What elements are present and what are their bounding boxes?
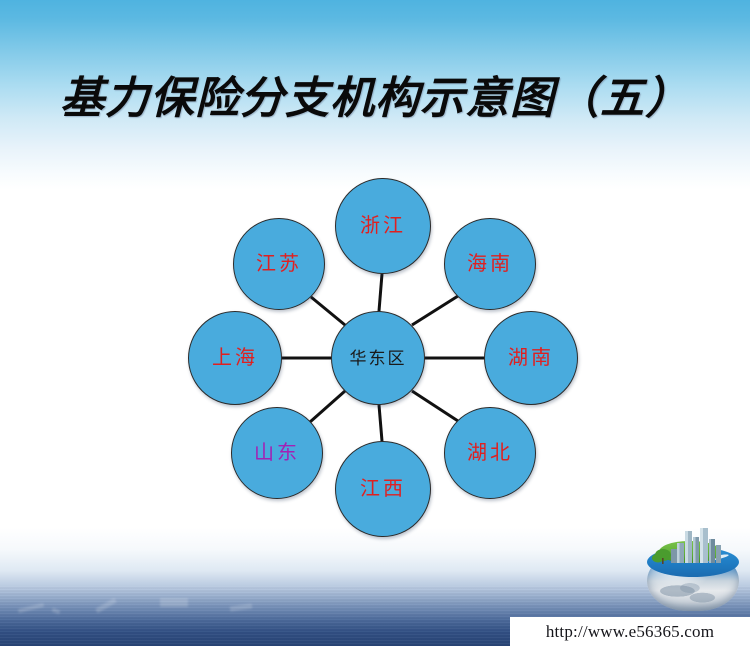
- diagram-node-hunan[interactable]: 湖南: [484, 311, 578, 405]
- edge-center-jiangsu: [311, 297, 345, 325]
- edge-center-hainan: [412, 296, 458, 325]
- edge-center-hubei: [412, 391, 458, 421]
- diagram-node-shanghai[interactable]: 上海: [188, 311, 282, 405]
- edge-center-zhejiang: [379, 274, 382, 311]
- diagram-node-label: 华东区: [350, 350, 407, 367]
- diagram-node-label: 山东: [254, 443, 300, 463]
- footer-url-text[interactable]: http://www.e56365.com: [546, 622, 714, 642]
- diagram-node-label: 湖北: [467, 443, 513, 463]
- diagram-node-zhejiang[interactable]: 浙江: [335, 178, 431, 274]
- earth-city-globe-icon: [641, 525, 745, 611]
- footer-url-bar: http://www.e56365.com: [510, 617, 750, 646]
- edge-center-jiangxi: [379, 405, 382, 441]
- diagram-node-label: 上海: [212, 348, 258, 368]
- diagram-node-shandong[interactable]: 山东: [231, 407, 323, 499]
- diagram-node-label: 湖南: [508, 348, 554, 368]
- diagram-node-jiangxi[interactable]: 江西: [335, 441, 431, 537]
- org-structure-diagram: 浙江 海南 湖南 湖北 江西 山东 上海 江苏 华东区: [0, 0, 750, 646]
- city-skyline-icon: [641, 525, 745, 571]
- slide-canvas: 基力保险分支机构示意图（五） 浙江 海南 湖南 湖北: [0, 0, 750, 646]
- diagram-node-hubei[interactable]: 湖北: [444, 407, 536, 499]
- diagram-node-label: 海南: [467, 254, 513, 274]
- diagram-node-label: 江苏: [256, 254, 302, 274]
- edge-center-shandong: [310, 391, 345, 422]
- diagram-node-center-huadong[interactable]: 华东区: [331, 311, 425, 405]
- diagram-node-jiangsu[interactable]: 江苏: [233, 218, 325, 310]
- diagram-node-label: 江西: [360, 479, 406, 499]
- diagram-node-label: 浙江: [360, 216, 406, 236]
- diagram-node-hainan[interactable]: 海南: [444, 218, 536, 310]
